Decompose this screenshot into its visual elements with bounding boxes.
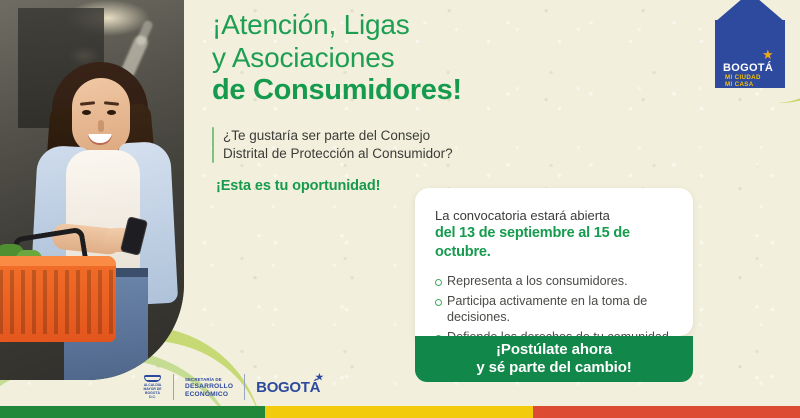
house-roof-icon	[715, 0, 785, 22]
stripe-segment-yellow	[265, 406, 533, 418]
secretaria-line-2: ECONÓMICO	[185, 391, 233, 399]
photo-nose	[98, 120, 104, 132]
list-item: Representa a los consumidores.	[435, 273, 673, 290]
apply-button-line-1: ¡Postúlate ahora	[476, 341, 631, 359]
photo-eye-left	[82, 110, 91, 115]
page-title: ¡Atención, Ligas y Asociaciones de Consu…	[212, 8, 542, 107]
photo-basket-rim	[0, 256, 116, 266]
bogota-house-logo: ★ BOGOTÁ MI CIUDAD MI CASA	[715, 6, 785, 88]
bullet-icon	[435, 299, 442, 306]
tricolor-stripe	[0, 406, 800, 418]
secretaria-desarrollo-economico-logo: SECRETARÍA DE DESARROLLO ECONÓMICO	[185, 376, 233, 399]
star-icon: ★	[762, 48, 774, 61]
photo-eye-right	[107, 110, 116, 115]
heading-line-3: de Consumidores!	[212, 74, 542, 107]
alcaldia-shield-logo: ALCALDÍA MAYOR DE BOGOTÁ D.C.	[143, 375, 162, 399]
apply-button-line-2: y sé parte del cambio!	[476, 359, 631, 377]
logo-subtitle-line-1: MI CIUDAD	[725, 74, 761, 81]
apply-button-label: ¡Postúlate ahora y sé parte del cambio!	[476, 341, 631, 377]
logo-subtitle-line-2: MI CASA	[725, 81, 754, 88]
secretaria-prefix: SECRETARÍA DE	[185, 376, 233, 384]
footer-divider-2	[244, 374, 245, 400]
list-item-label: Participa activamente en la toma de deci…	[447, 293, 673, 326]
footer-divider	[173, 374, 174, 400]
card-dates-text: del 13 de septiembre al 15 de octubre.	[435, 224, 673, 262]
benefits-list: Representa a los consumidores. Participa…	[435, 273, 673, 345]
question-line-1: ¿Te gustaría ser parte del Consejo	[223, 127, 453, 145]
stripe-segment-red	[533, 406, 800, 418]
accent-bar	[212, 127, 214, 163]
question-line-2: Distrital de Protección al Consumidor?	[223, 145, 453, 163]
bullet-icon	[435, 279, 442, 286]
question-block: ¿Te gustaría ser parte del Consejo Distr…	[212, 127, 502, 163]
hero-photo	[0, 0, 184, 380]
shield-caption: ALCALDÍA MAYOR DE BOGOTÁ D.C.	[143, 383, 162, 399]
list-item-label: Representa a los consumidores.	[447, 273, 628, 290]
footer-logos: ALCALDÍA MAYOR DE BOGOTÁ D.C. SECRETARÍA…	[143, 374, 320, 400]
promo-banner: ¡Atención, Ligas y Asociaciones de Consu…	[0, 0, 800, 418]
photo-basket-slots	[0, 270, 116, 334]
secretaria-line-1: DESARROLLO	[185, 383, 233, 391]
shield-icon	[144, 375, 161, 382]
logo-title: BOGOTÁ	[723, 62, 773, 74]
heading-line-2: y Asociaciones	[212, 41, 542, 74]
stripe-segment-green	[0, 406, 265, 418]
footer-bogota-label: BOGOTÁ	[256, 379, 320, 396]
list-item: Participa activamente en la toma de deci…	[435, 293, 673, 326]
photo-shopping-basket	[0, 256, 116, 342]
apply-button[interactable]: ¡Postúlate ahora y sé parte del cambio!	[415, 336, 693, 382]
info-card: La convocatoria estará abierta del 13 de…	[415, 188, 693, 336]
heading-line-1: ¡Atención, Ligas	[212, 8, 542, 41]
opportunity-tagline: ¡Esta es tu oportunidad!	[216, 178, 380, 194]
star-icon: ★	[315, 372, 323, 383]
footer-bogota-logo: BOGOTÁ ★	[256, 379, 320, 396]
question-text: ¿Te gustaría ser parte del Consejo Distr…	[223, 127, 453, 163]
card-intro-text: La convocatoria estará abierta	[435, 207, 673, 224]
